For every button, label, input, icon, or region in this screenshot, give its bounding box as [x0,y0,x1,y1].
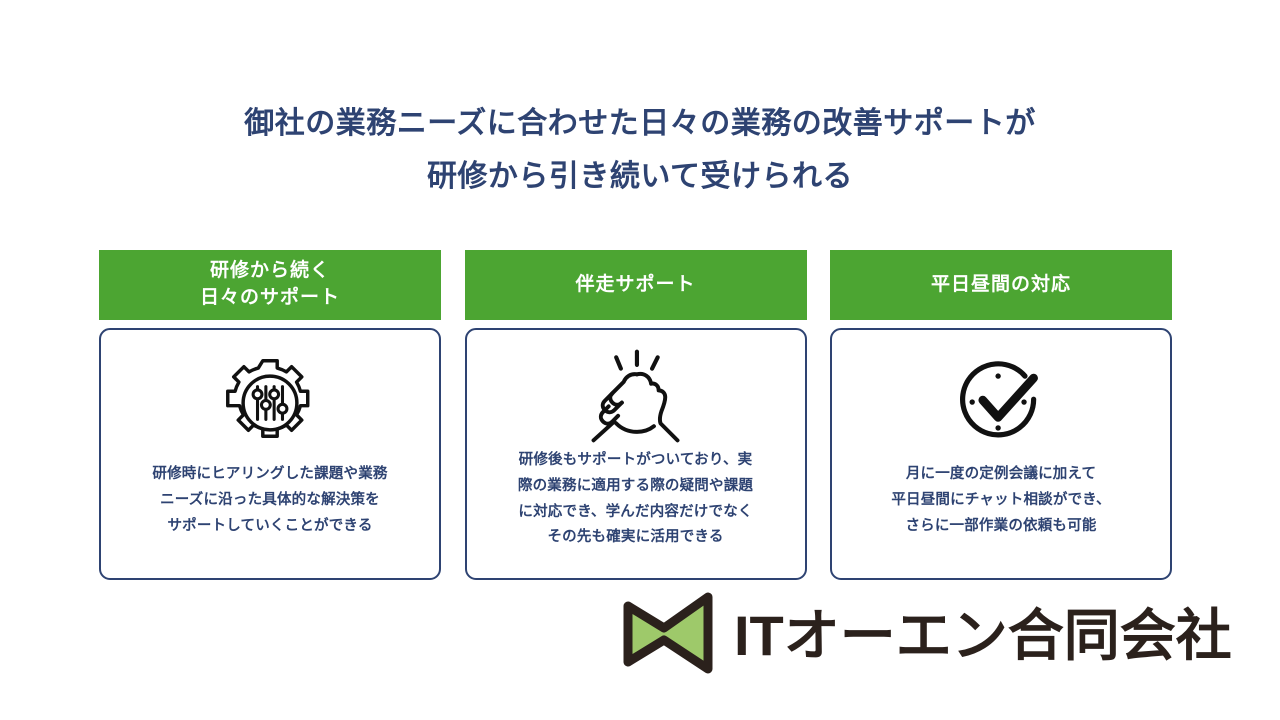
feature-card-body-2: 研修後もサポートがついており、実 際の業務に適用する際の疑問や課題 に対応でき、… [465,328,807,580]
feature-card-weekday-response: 平日昼間の対応 [830,250,1172,580]
card-text-line-3a: 月に一度の定例会議に加えて [846,462,1156,488]
card-text-line-1a: 研修時にヒアリングした課題や業務 [115,462,425,488]
feature-card-body-3: 月に一度の定例会議に加えて 平日昼間にチャット相談ができ、 さらに一部作業の依頼… [830,328,1172,580]
page-title: 御社の業務ニーズに合わせた日々の業務の改善サポートが 研修から引き続いて受けられ… [0,98,1280,203]
card-text-line-1b: ニーズに沿った具体的な解決策を [115,488,425,514]
feature-card-header-1: 研修から続く 日々のサポート [99,250,441,320]
feature-cards-row: 研修から続く 日々のサポート [99,250,1172,580]
card-text-line-1c: サポートしていくことができる [115,514,425,540]
feature-card-text-2: 研修後もサポートがついており、実 際の業務に適用する際の疑問や課題 に対応でき、… [481,448,791,551]
feature-card-ongoing-support: 研修から続く 日々のサポート [99,250,441,580]
handshake-icon [584,344,688,448]
bowtie-logo-mark [622,592,716,679]
feature-card-text-3: 月に一度の定例会議に加えて 平日昼間にチャット相談ができ、 さらに一部作業の依頼… [846,462,1156,539]
feature-card-companion-support: 伴走サポート [465,250,807,580]
card-text-line-2b: 際の業務に適用する際の疑問や課題 [481,474,791,500]
card-text-line-2d: その先も確実に活用できる [481,525,791,551]
card-header-line-2a: 伴走サポート [575,272,695,299]
feature-card-body-1: 研修時にヒアリングした課題や業務 ニーズに沿った具体的な解決策を サポートしてい… [99,328,441,580]
card-header-line-3a: 平日昼間の対応 [931,272,1071,299]
clock-check-icon [951,344,1051,462]
feature-card-header-2: 伴走サポート [465,250,807,320]
card-header-line-1b: 日々のサポート [200,285,340,312]
feature-card-header-3: 平日昼間の対応 [830,250,1172,320]
feature-card-text-1: 研修時にヒアリングした課題や業務 ニーズに沿った具体的な解決策を サポートしてい… [115,462,425,539]
page-title-line-1: 御社の業務ニーズに合わせた日々の業務の改善サポートが [0,98,1280,151]
card-text-line-3b: 平日昼間にチャット相談ができ、 [846,488,1156,514]
company-logo: ITオーエン合同会社 [622,592,1232,679]
gear-sliders-icon [222,344,318,462]
page-title-line-2: 研修から引き続いて受けられる [0,151,1280,204]
card-text-line-3c: さらに一部作業の依頼も可能 [846,514,1156,540]
card-header-line-1a: 研修から続く [200,258,340,285]
card-text-line-2c: に対応でき、学んだ内容だけでなく [481,500,791,526]
company-name: ITオーエン合同会社 [734,608,1232,664]
card-text-line-2a: 研修後もサポートがついており、実 [481,448,791,474]
